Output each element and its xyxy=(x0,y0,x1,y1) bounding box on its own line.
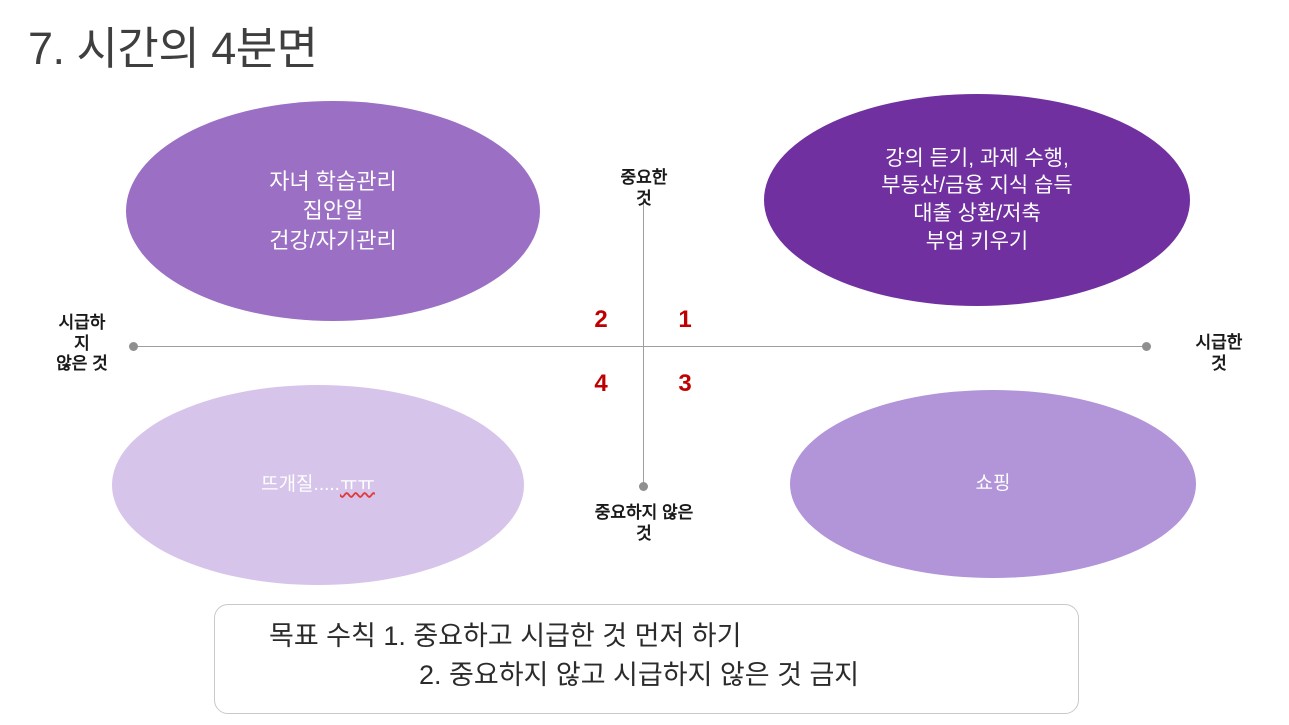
axis-label-top: 중요한 것 xyxy=(592,168,696,209)
axis-endpoint-dot-bottom xyxy=(639,482,648,491)
quadrant-number-3: 3 xyxy=(672,370,698,398)
axis-endpoint-dot-left xyxy=(129,342,138,351)
quadrant-ellipse-q4-text-main: 뜨개질..... xyxy=(261,474,340,495)
quadrant-number-2: 2 xyxy=(588,306,614,334)
axis-label-bottom: 중요하지 않은 것 xyxy=(558,503,730,544)
slide-canvas: 7. 시간의 4분면 자녀 학습관리 집안일 건강/자기관리 강의 듣기, 과제… xyxy=(0,0,1289,725)
goal-rule-line-1: 목표 수칙 1. 중요하고 시급한 것 먼저 하기 xyxy=(241,617,1052,656)
quadrant-ellipse-q1[interactable]: 강의 듣기, 과제 수행, 부동산/금융 지식 습득 대출 상환/저축 부업 키… xyxy=(764,94,1190,306)
page-title: 7. 시간의 4분면 xyxy=(28,12,318,77)
quadrant-ellipse-q4-text: 뜨개질.....ㅠㅠ xyxy=(112,472,524,497)
quadrant-number-1: 1 xyxy=(672,306,698,334)
spellcheck-error-text: ㅠㅠ xyxy=(340,474,375,495)
horizontal-axis-line xyxy=(133,346,1146,347)
axis-label-right: 시급한 것 xyxy=(1165,333,1273,374)
quadrant-number-4: 4 xyxy=(588,370,614,398)
quadrant-ellipse-q2[interactable]: 자녀 학습관리 집안일 건강/자기관리 xyxy=(126,101,540,321)
axis-label-left: 시급하 지 않은 것 xyxy=(34,313,130,375)
goal-rule-line-2: 2. 중요하지 않고 시급하지 않은 것 금지 xyxy=(241,656,1052,695)
quadrant-ellipse-q4[interactable]: 뜨개질.....ㅠㅠ xyxy=(112,385,524,585)
quadrant-ellipse-q3[interactable]: 쇼핑 xyxy=(790,390,1196,578)
quadrant-ellipse-q3-text: 쇼핑 xyxy=(790,471,1196,496)
vertical-axis-line xyxy=(643,198,644,486)
axis-endpoint-dot-right xyxy=(1142,342,1151,351)
quadrant-ellipse-q2-text: 자녀 학습관리 집안일 건강/자기관리 xyxy=(126,167,540,254)
quadrant-ellipse-q1-text: 강의 듣기, 과제 수행, 부동산/금융 지식 습득 대출 상환/저축 부업 키… xyxy=(764,145,1190,256)
goal-rules-box[interactable]: 목표 수칙 1. 중요하고 시급한 것 먼저 하기 2. 중요하지 않고 시급하… xyxy=(214,604,1079,714)
